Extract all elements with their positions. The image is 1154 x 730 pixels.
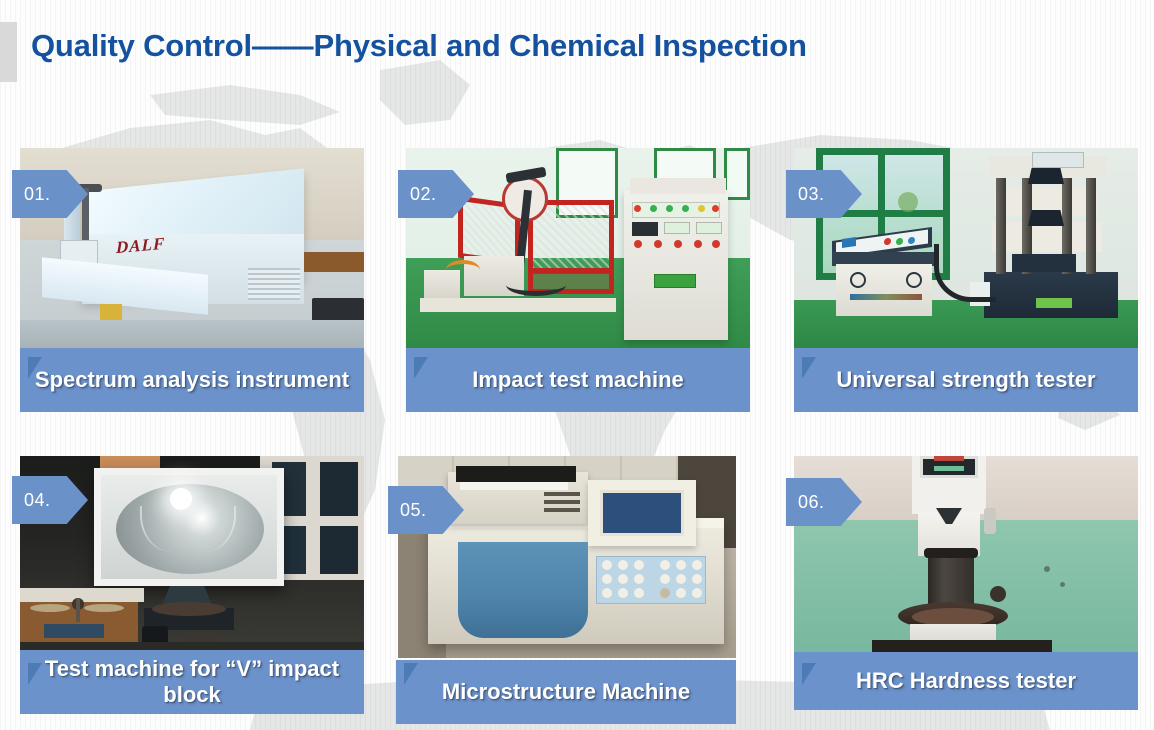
card-04-caption: Test machine for “V” impact block (20, 650, 364, 714)
card-05-caption: Microstructure Machine (396, 660, 736, 724)
card-05[interactable]: Microstructure Machine 05. (396, 456, 736, 724)
card-02[interactable]: Impact test machine 02. (406, 148, 750, 412)
card-02-caption: Impact test machine (406, 348, 750, 412)
card-04[interactable]: Test machine for “V” impact block 04. (20, 456, 364, 714)
card-01[interactable]: DALF Spectrum analysis instrument 01. (20, 148, 364, 412)
slide-canvas: Quality Control——Physical and Chemical I… (0, 0, 1154, 730)
card-06[interactable]: HRC Hardness tester 06. (794, 456, 1138, 718)
title-accent-bar (0, 22, 17, 82)
slide-header: Quality Control——Physical and Chemical I… (0, 0, 1154, 100)
card-06-caption: HRC Hardness tester (794, 652, 1138, 710)
card-03[interactable]: Universal strength tester 03. (794, 148, 1138, 412)
microstructure-machine-photo (398, 456, 736, 658)
card-01-caption: Spectrum analysis instrument (20, 348, 364, 412)
page-title: Quality Control——Physical and Chemical I… (31, 28, 807, 64)
card-03-caption: Universal strength tester (794, 348, 1138, 412)
